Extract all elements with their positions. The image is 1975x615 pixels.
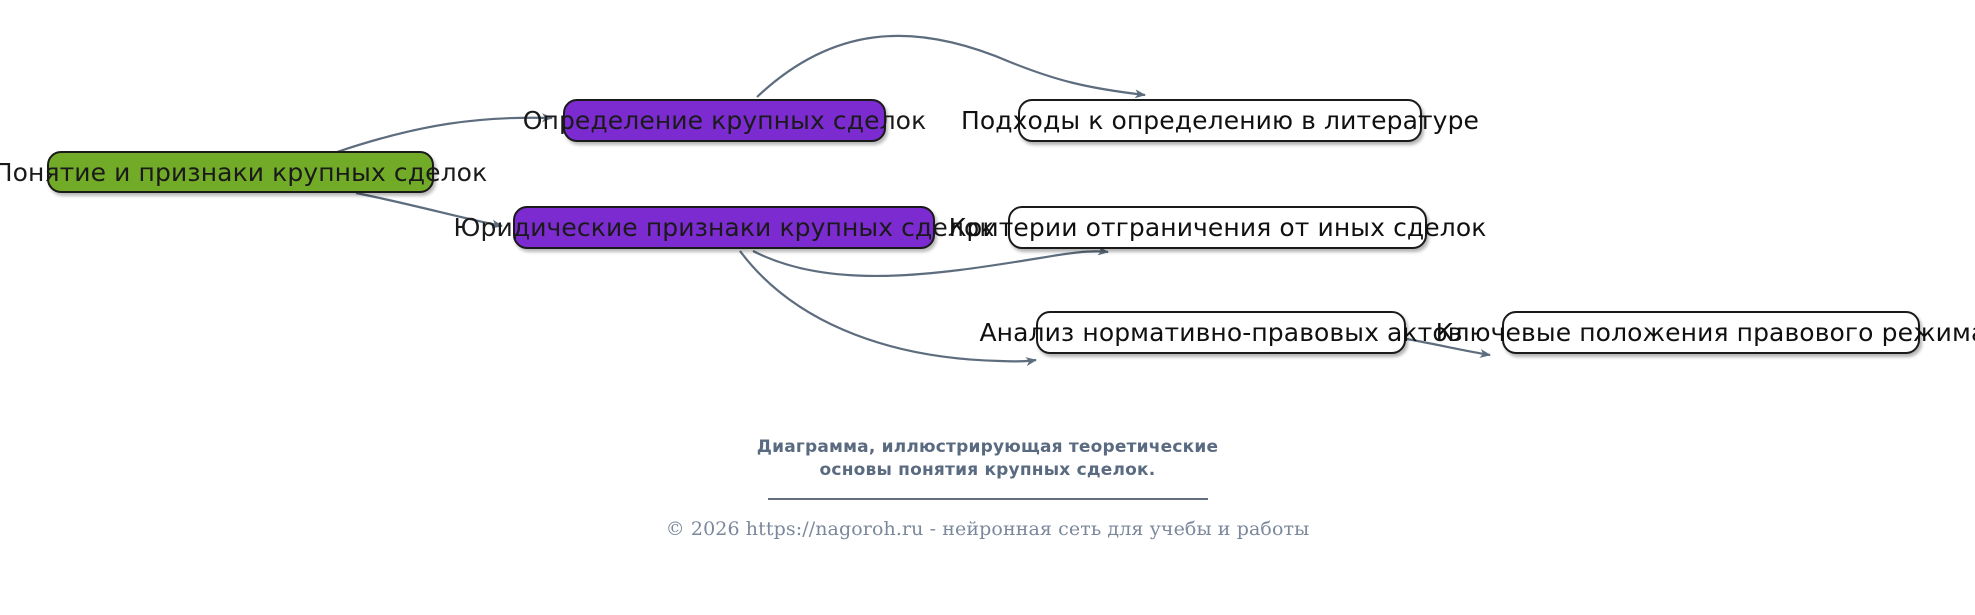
node-root-ponyatie-i-priznaki[interactable]: Понятие и признаки крупных сделок [47,151,434,193]
node-opredelenie-krupnyh-sdelok[interactable]: Определение крупных сделок [563,99,886,142]
node-analiz-normativno-pravovyh-aktov[interactable]: Анализ нормативно-правовых актов [1036,311,1406,354]
node-label: Подходы к определению в литературе [961,108,1479,133]
edge-features-to-criteria [753,251,1108,276]
caption-line-1: Диаграмма, иллюстрирующая теоретические [757,437,1219,457]
node-yuridicheskie-priznaki[interactable]: Юридические признаки крупных сделок [513,206,935,249]
edge-definition-to-approaches [757,36,1145,97]
node-label: Юридические признаки крупных сделок [453,215,994,240]
footer-credit: © 2026 https://nagoroh.ru - нейронная се… [0,518,1975,540]
node-label: Анализ нормативно-правовых актов [979,320,1462,345]
caption-line-2: основы понятия крупных сделок. [820,460,1156,480]
node-label: Понятие и признаки крупных сделок [0,160,487,185]
caption-divider [768,498,1208,500]
diagram-caption: Диаграмма, иллюстрирующая теоретические … [753,436,1223,481]
node-label: Определение крупных сделок [523,108,927,133]
node-podhody-k-opredeleniyu[interactable]: Подходы к определению в литературе [1018,99,1422,142]
node-klyuchevye-polozheniya[interactable]: Ключевые положения правового режима [1502,311,1920,354]
diagram-canvas: Понятие и признаки крупных сделок Опреде… [0,0,1975,615]
edge-root-to-definition [337,118,552,152]
node-kriterii-otgranicheniya[interactable]: Критерии отграничения от иных сделок [1008,206,1427,249]
node-label: Ключевые положения правового режима [1436,320,1975,345]
caption-block: Диаграмма, иллюстрирующая теоретические … [0,436,1975,540]
node-label: Критерии отграничения от иных сделок [949,215,1487,240]
